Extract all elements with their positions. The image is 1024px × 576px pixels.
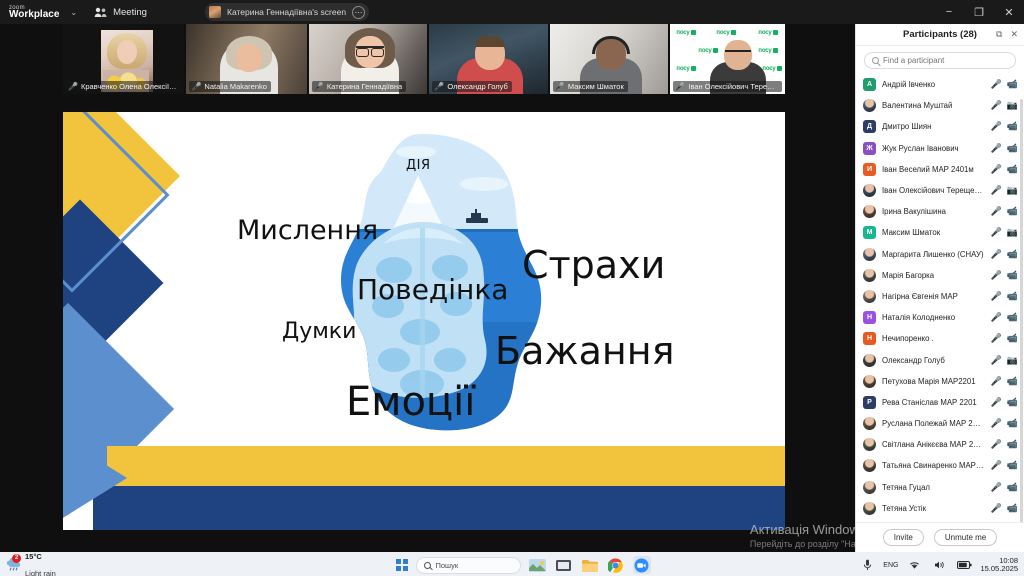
avatar: Н: [863, 332, 876, 345]
participant-row[interactable]: Маргарита Лишенко (СНАУ)🎤📹: [856, 244, 1024, 265]
share-label: Катерина Геннадіївна's screen: [227, 7, 346, 17]
video-tile[interactable]: 🎤 Natalia Makarenko: [186, 24, 306, 94]
participant-name: Наталія Колодненко: [882, 313, 985, 322]
avatar: Д: [863, 120, 876, 133]
mic-off-icon[interactable]: 🎤: [991, 165, 1002, 174]
slide-label-emotsii: Емоції: [346, 379, 475, 425]
participant-name: Жук Руслан Іванович: [882, 144, 985, 153]
video-feed-detail: [356, 46, 384, 53]
video-tile[interactable]: 🎤 Максим Шматок: [550, 24, 669, 94]
participant-status-icons: 🎤📹: [991, 419, 1018, 428]
camera-off-icon[interactable]: 📹: [1007, 334, 1018, 343]
taskbar-clock[interactable]: 10:08 15.05.2025: [980, 557, 1018, 574]
avatar: [863, 290, 876, 303]
camera-on-icon[interactable]: 📷: [1007, 101, 1018, 110]
avatar: [863, 248, 876, 261]
participant-status-icons: 🎤📹: [991, 504, 1018, 513]
zoom-meeting-window: zoom Workplace ⌄ Meeting Катерина Геннад…: [0, 0, 1024, 576]
people-icon: [94, 7, 107, 18]
participant-status-icons: 🎤📹: [991, 461, 1018, 470]
tile-name: Олександр Голуб: [447, 82, 507, 91]
camera-off-icon[interactable]: 📹: [1007, 313, 1018, 322]
participant-row[interactable]: ИІван Веселий МАР 2401м🎤📹: [856, 159, 1024, 180]
participant-row[interactable]: Нагірна Євгенія МАР🎤📹: [856, 286, 1024, 307]
participant-name: Андрій Івченко: [882, 80, 985, 89]
clock-date: 15.05.2025: [980, 565, 1018, 573]
zoom-taskbar-icon[interactable]: [633, 556, 651, 574]
participant-row[interactable]: ННечипоренко .🎤📹: [856, 328, 1024, 349]
participant-row[interactable]: РРева Станіслав МАР 2201🎤📹: [856, 392, 1024, 413]
avatar: [863, 354, 876, 367]
participant-status-icons: 🎤📹: [991, 483, 1018, 492]
virtual-bg-logo: посу: [676, 30, 695, 36]
mic-off-icon[interactable]: 🎤: [991, 440, 1002, 449]
mic-off-icon[interactable]: 🎤: [991, 292, 1002, 301]
video-feed-detail: [725, 50, 751, 57]
participant-status-icons: 🎤📹: [991, 80, 1018, 89]
wifi-icon[interactable]: [905, 556, 923, 574]
participant-status-icons: 🎤📹: [991, 165, 1018, 174]
participant-row[interactable]: Татьяна Свинаренко МАР2201🎤📹: [856, 455, 1024, 476]
participant-name: Тетяна Гуцал: [882, 483, 985, 492]
camera-off-icon[interactable]: 📹: [1007, 165, 1018, 174]
zoom-logo: zoom Workplace: [9, 5, 59, 20]
virtual-bg-logo: посу: [698, 48, 717, 54]
camera-off-icon[interactable]: 📹: [1007, 271, 1018, 280]
camera-off-icon[interactable]: 📹: [1007, 250, 1018, 259]
slide-label-povedinka: Поведінка: [357, 273, 508, 306]
participant-row[interactable]: Ірина Вакулішина🎤📹: [856, 201, 1024, 222]
close-icon[interactable]: ✕: [1010, 29, 1018, 40]
windows-taskbar: 2 15°C Light rain Пошук: [0, 552, 1024, 576]
mic-off-icon[interactable]: 🎤: [991, 186, 1002, 195]
search-icon: [872, 57, 879, 64]
participant-row[interactable]: Іван Олексійович Терещенко🎤📷: [856, 180, 1024, 201]
participant-status-icons: 🎤📹: [991, 271, 1018, 280]
widgets-icon[interactable]: [529, 556, 547, 574]
camera-off-icon[interactable]: 📹: [1007, 292, 1018, 301]
participant-name: Нечипоренко .: [882, 334, 985, 343]
slide-label-dumky: Думки: [282, 319, 356, 344]
virtual-bg-logo: посу: [676, 66, 695, 72]
taskbar-center: Пошук: [396, 556, 651, 574]
folder-icon[interactable]: [581, 556, 599, 574]
virtual-bg-logo: посу: [758, 30, 777, 36]
video-tile[interactable]: посу посу посу посу посу посу посу посу …: [670, 24, 785, 94]
participant-status-icons: 🎤📷: [991, 228, 1018, 237]
tile-name: Natalia Makarenko: [204, 82, 267, 91]
notification-badge: 2: [12, 554, 21, 563]
window-controls: − ❐ ✕: [934, 0, 1024, 24]
meeting-label: Meeting: [113, 7, 147, 18]
search-input[interactable]: [883, 56, 1008, 65]
participant-name: Іван Олексійович Терещенко: [882, 186, 985, 195]
weather-text: 15°C Light rain: [25, 547, 56, 576]
participants-header: Participants (28) ⧉ ✕: [856, 24, 1024, 46]
video-feed-detail: [475, 36, 505, 47]
mic-off-icon[interactable]: 🎤: [991, 271, 1002, 280]
participant-name: Татьяна Свинаренко МАР2201: [882, 461, 985, 470]
participant-status-icons: 🎤📹: [991, 398, 1018, 407]
participant-name: Руслана Полежай МАР 2201: [882, 419, 985, 428]
slide-label-bazhannya: Бажання: [495, 329, 674, 373]
participant-search[interactable]: [864, 52, 1016, 69]
zoom-workplace-label: Workplace: [9, 10, 59, 20]
avatar: М: [863, 226, 876, 239]
participants-title: Participants (28): [903, 29, 977, 40]
participant-name: Марія Багорка: [882, 271, 985, 280]
tile-nameplate: 🎤 Natalia Makarenko: [189, 81, 271, 92]
sharer-avatar: [209, 6, 221, 18]
participant-name: Валентина Муштай: [882, 101, 985, 110]
avatar: [863, 459, 876, 472]
participant-name: Петухова Марія МАР2201: [882, 377, 985, 386]
participant-row[interactable]: Руслана Полежай МАР 2201🎤📹: [856, 413, 1024, 434]
avatar: [863, 205, 876, 218]
mic-off-icon: 🎤: [314, 83, 324, 91]
microphone-icon[interactable]: [858, 556, 876, 574]
screen-share-indicator[interactable]: Катерина Геннадіївна's screen ⋯: [205, 3, 369, 21]
camera-on-icon[interactable]: 📷: [1007, 228, 1018, 237]
chevron-down-icon[interactable]: ⌄: [70, 8, 77, 17]
participant-row[interactable]: ААндрій Івченко🎤📹: [856, 74, 1024, 95]
avatar: [863, 502, 876, 515]
mic-off-icon[interactable]: 🎤: [991, 504, 1002, 513]
navy-bottom-bar: [93, 486, 785, 530]
participant-status-icons: 🎤📹: [991, 440, 1018, 449]
tile-name: Іван Олексійович Терещенко: [688, 82, 778, 91]
mic-off-icon: 🎤: [68, 83, 78, 91]
participant-name: Іван Веселий МАР 2401м: [882, 165, 985, 174]
participant-status-icons: 🎤📹: [991, 377, 1018, 386]
participant-status-icons: 🎤📹: [991, 250, 1018, 259]
video-feed-detail: [117, 40, 137, 64]
meeting-tab[interactable]: Meeting: [94, 7, 147, 18]
chrome-icon[interactable]: [607, 556, 625, 574]
rain-icon: 2: [7, 557, 21, 571]
video-tile[interactable]: 🎤 Олександр Голуб: [429, 24, 548, 94]
mic-off-icon[interactable]: 🎤: [991, 313, 1002, 322]
participants-scrollbar[interactable]: [1020, 99, 1023, 522]
mic-off-icon[interactable]: 🎤: [991, 80, 1002, 89]
avatar: [863, 417, 876, 430]
avatar: Н: [863, 311, 876, 324]
participant-row[interactable]: Петухова Марія МАР2201🎤📹: [856, 371, 1024, 392]
language-indicator[interactable]: ENG: [883, 562, 898, 569]
video-feed-detail: [236, 44, 262, 72]
participant-name: Маргарита Лишенко (СНАУ): [882, 250, 985, 259]
tile-name: Кравченко Олена Олексіївна: [81, 82, 177, 91]
participant-name: Рева Станіслав МАР 2201: [882, 398, 985, 407]
mic-off-icon: 🎤: [191, 83, 201, 91]
participants-header-actions: ⧉ ✕: [996, 29, 1018, 40]
camera-off-icon[interactable]: 📹: [1007, 398, 1018, 407]
participant-status-icons: 🎤📹: [991, 334, 1018, 343]
participant-row[interactable]: Марія Багорка🎤📹: [856, 265, 1024, 286]
participant-row[interactable]: Світлана Анікєєва МАР 2401м🎤📹: [856, 434, 1024, 455]
video-tile-active-speaker[interactable]: 🎤 Катерина Геннадіївна: [309, 24, 428, 94]
avatar: Р: [863, 396, 876, 409]
participant-name: Олександр Голуб: [882, 356, 985, 365]
virtual-bg-logo: посу: [716, 30, 735, 36]
mic-off-icon[interactable]: 🎤: [991, 398, 1002, 407]
unmute-me-button[interactable]: Unmute me: [934, 529, 997, 546]
participant-name: Дмитро Шиян: [882, 122, 985, 131]
avatar: [863, 99, 876, 112]
mic-off-icon[interactable]: 🎤: [991, 207, 1002, 216]
participant-status-icons: 🎤📹: [991, 292, 1018, 301]
participant-name: Світлана Анікєєва МАР 2401м: [882, 440, 985, 449]
avatar: [863, 269, 876, 282]
zoom-title-bar: zoom Workplace ⌄ Meeting Катерина Геннад…: [0, 0, 1024, 24]
mic-off-icon[interactable]: 🎤: [991, 334, 1002, 343]
camera-off-icon[interactable]: 📹: [1007, 207, 1018, 216]
participant-row[interactable]: Тетяна Гуцал🎤📹: [856, 477, 1024, 498]
mic-off-icon[interactable]: 🎤: [991, 483, 1002, 492]
mic-off-icon[interactable]: 🎤: [991, 419, 1002, 428]
close-button[interactable]: ✕: [994, 0, 1024, 24]
camera-off-icon[interactable]: 📹: [1007, 483, 1018, 492]
mic-off-icon[interactable]: 🎤: [991, 144, 1002, 153]
mic-off-icon: 🎤: [555, 83, 565, 91]
participant-row[interactable]: ННаталія Колодненко🎤📹: [856, 307, 1024, 328]
search-icon: [424, 562, 431, 569]
mic-off-icon: 🎤: [434, 83, 444, 91]
participant-status-icons: 🎤📷: [991, 356, 1018, 365]
maximize-button[interactable]: ❐: [964, 0, 994, 24]
weather-condition: Light rain: [25, 569, 56, 576]
participant-name: Тетяна Устік: [882, 504, 985, 513]
participant-status-icons: 🎤📷: [991, 101, 1018, 110]
start-button-icon[interactable]: [396, 559, 408, 571]
participants-list[interactable]: ААндрій Івченко🎤📹Валентина Муштай🎤📷ДДмит…: [856, 73, 1024, 522]
avatar: Ж: [863, 142, 876, 155]
light-blue-triangle: [63, 422, 127, 530]
camera-on-icon[interactable]: 📷: [1007, 356, 1018, 365]
yellow-bottom-bar: [107, 446, 785, 486]
tile-name: Катерина Геннадіївна: [327, 82, 402, 91]
battery-icon[interactable]: [955, 556, 973, 574]
volume-icon[interactable]: [930, 556, 948, 574]
file-explorer-icon[interactable]: [555, 556, 573, 574]
tile-nameplate: 🎤 Олександр Голуб: [432, 81, 511, 92]
shared-screen-slide[interactable]: ДІЯ Мислення Страхи Поведінка Думки Бажа…: [63, 112, 785, 530]
taskbar-search[interactable]: Пошук: [416, 557, 521, 574]
avatar: А: [863, 78, 876, 91]
video-tile[interactable]: 🎤 Кравченко Олена Олексіївна: [63, 24, 184, 94]
avatar: [863, 184, 876, 197]
participants-footer: Invite Unmute me: [856, 522, 1024, 552]
participant-row[interactable]: Тетяна Устік🎤📹: [856, 498, 1024, 519]
participant-status-icons: 🎤📹: [991, 122, 1018, 131]
camera-on-icon[interactable]: 📷: [1007, 186, 1018, 195]
slide-label-strahy: Страхи: [522, 243, 665, 287]
tile-nameplate: 🎤 Кравченко Олена Олексіївна: [66, 81, 181, 92]
camera-off-icon[interactable]: 📹: [1007, 144, 1018, 153]
camera-off-icon[interactable]: 📹: [1007, 377, 1018, 386]
participant-name: Максим Шматок: [882, 228, 985, 237]
more-options-icon[interactable]: ⋯: [352, 6, 365, 19]
participant-name: Нагірна Євгенія МАР: [882, 292, 985, 301]
virtual-bg-logo: посу: [758, 48, 777, 54]
popout-icon[interactable]: ⧉: [996, 29, 1002, 40]
video-filmstrip: 🎤 Кравченко Олена Олексіївна 🎤 Natalia M…: [63, 24, 785, 94]
participant-status-icons: 🎤📹: [991, 144, 1018, 153]
camera-off-icon[interactable]: 📹: [1007, 461, 1018, 470]
participant-status-icons: 🎤📹: [991, 207, 1018, 216]
tile-nameplate: 🎤 Катерина Геннадіївна: [312, 81, 406, 92]
taskbar-search-placeholder: Пошук: [436, 561, 459, 570]
taskbar-system-tray: ENG 10:08 15.05.2025: [858, 556, 1018, 574]
avatar: И: [863, 163, 876, 176]
mic-off-icon[interactable]: 🎤: [991, 228, 1002, 237]
tile-nameplate: 🎤 Максим Шматок: [553, 81, 628, 92]
participant-row[interactable]: ДДмитро Шиян🎤📹: [856, 116, 1024, 137]
weather-widget[interactable]: 2 15°C Light rain: [7, 547, 56, 576]
camera-off-icon[interactable]: 📹: [1007, 440, 1018, 449]
avatar: [863, 481, 876, 494]
mic-off-icon: 🎤: [675, 83, 685, 91]
participant-status-icons: 🎤📹: [991, 313, 1018, 322]
slide-label-myslennya: Мислення: [237, 215, 378, 246]
mic-off-icon[interactable]: 🎤: [991, 101, 1002, 110]
camera-off-icon[interactable]: 📹: [1007, 122, 1018, 131]
virtual-bg-logo: посу: [762, 66, 781, 72]
tile-name: Максим Шматок: [568, 82, 624, 91]
participant-row[interactable]: ММаксим Шматок🎤📷: [856, 222, 1024, 243]
mic-off-icon[interactable]: 🎤: [991, 122, 1002, 131]
participant-row[interactable]: Валентина Муштай🎤📷: [856, 95, 1024, 116]
participant-row[interactable]: ЖЖук Руслан Іванович🎤📹: [856, 138, 1024, 159]
minimize-button[interactable]: −: [934, 0, 964, 24]
mic-off-icon[interactable]: 🎤: [991, 377, 1002, 386]
participants-panel: Participants (28) ⧉ ✕ ААндрій Івченко🎤📹В…: [855, 24, 1024, 552]
mic-off-icon[interactable]: 🎤: [991, 250, 1002, 259]
slide-label-diya: ДІЯ: [406, 158, 431, 173]
participant-status-icons: 🎤📷: [991, 186, 1018, 195]
invite-button[interactable]: Invite: [883, 529, 924, 546]
participant-name: Ірина Вакулішина: [882, 207, 985, 216]
participant-row[interactable]: Олександр Голуб🎤📷: [856, 349, 1024, 370]
avatar: [863, 438, 876, 451]
camera-off-icon[interactable]: 📹: [1007, 504, 1018, 513]
avatar: [863, 375, 876, 388]
tile-nameplate: 🎤 Іван Олексійович Терещенко: [673, 81, 782, 92]
camera-off-icon[interactable]: 📹: [1007, 80, 1018, 89]
mic-off-icon[interactable]: 🎤: [991, 461, 1002, 470]
weather-temperature: 15°C: [25, 552, 42, 561]
mic-off-icon[interactable]: 🎤: [991, 356, 1002, 365]
camera-off-icon[interactable]: 📹: [1007, 419, 1018, 428]
